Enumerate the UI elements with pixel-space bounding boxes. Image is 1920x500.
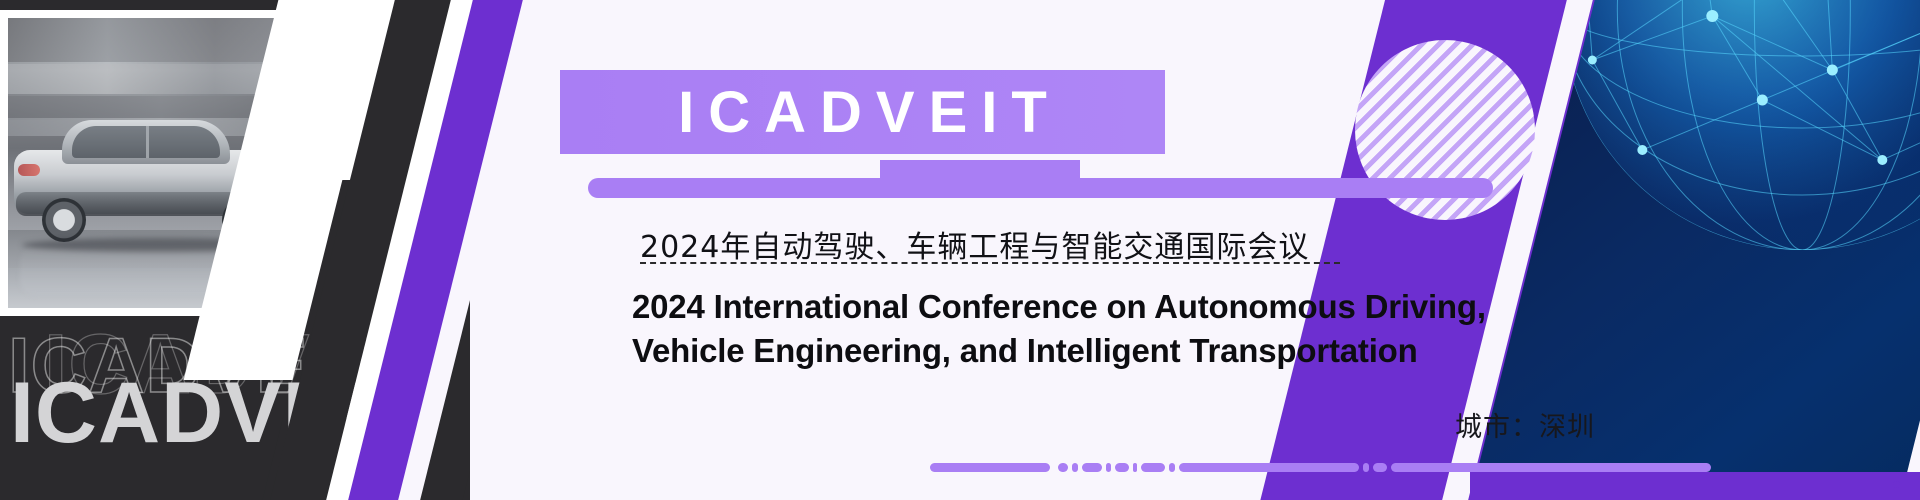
decor-bar-segment (1179, 463, 1359, 472)
bottom-purple-strip (1470, 472, 1920, 500)
acronym-title: ICADVEIT (560, 70, 1165, 154)
city-label: 城市：深圳 (1455, 405, 1595, 444)
decor-bar-segment (1082, 463, 1102, 472)
dashed-divider (640, 262, 1340, 264)
car-window-pillar (146, 126, 149, 158)
decor-bar-segment (1072, 463, 1078, 472)
decor-bar-segment (1058, 463, 1068, 472)
conference-title-english: 2024 International Conference on Autonom… (632, 285, 1532, 372)
decor-bar-segment (1169, 463, 1175, 472)
decor-bar-segment (1363, 463, 1369, 472)
decor-bar-segment (1115, 463, 1129, 472)
corner-dot (1893, 481, 1900, 488)
decor-bar-segment (1141, 463, 1165, 472)
decor-bar-segment (1373, 463, 1387, 472)
acronym-title-box: ICADVEIT (560, 70, 1165, 154)
conference-banner: ICADVEIT 2024年自动驾驶、车辆工程与智能交通国际会议 2024 In… (0, 0, 1920, 500)
conference-title-chinese: 2024年自动驾驶、车辆工程与智能交通国际会议 (640, 222, 1309, 266)
title-underbar (588, 178, 1493, 198)
decor-bar-segment (1133, 463, 1137, 472)
decor-bar-segment (1106, 463, 1111, 472)
car-taillight (18, 164, 40, 176)
decor-bar-segment (1391, 463, 1711, 472)
car-wheel (42, 198, 86, 242)
decor-bar-segment (930, 463, 1050, 472)
